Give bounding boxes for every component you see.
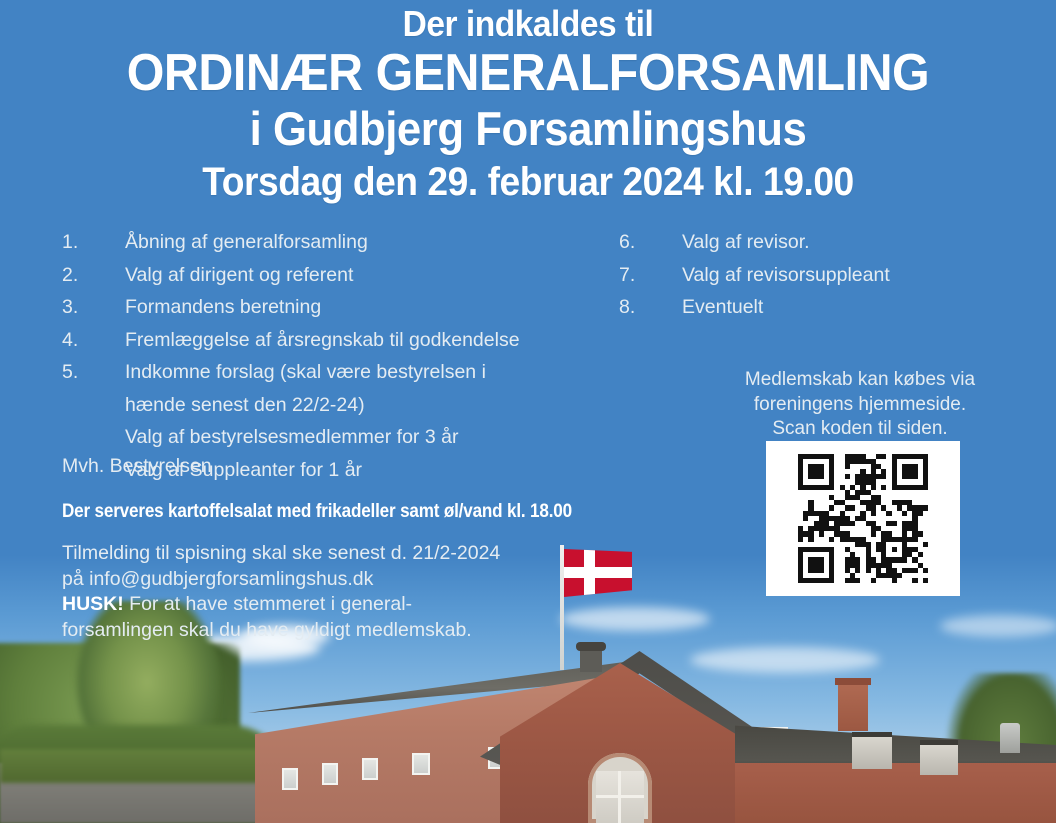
closing-block: Mvh. Bestyrelsen Der serveres kartoffels…: [62, 453, 722, 643]
agenda-list-left: 1. Åbning af generalforsamling 2. Valg a…: [62, 226, 622, 486]
serving-line: Der serveres kartoffelsalat med frikadel…: [62, 498, 656, 525]
window: [638, 648, 670, 694]
agenda-number: 2.: [62, 259, 125, 292]
agenda-text: Indkomne forslag (skal være bestyrelsen …: [125, 356, 622, 389]
qr-code-icon[interactable]: [798, 454, 928, 584]
remember-line-1: HUSK! For at have stemmeret i general-: [62, 592, 722, 618]
signup-line-1: Tilmelding til spisning skal ske senest …: [62, 541, 722, 567]
agenda-number: 8.: [619, 291, 682, 324]
heading-line-4: Torsdag den 29. februar 2024 kl. 19.00: [37, 152, 1019, 202]
agenda-number: 7.: [619, 259, 682, 292]
remember-label: HUSK!: [62, 593, 124, 615]
agenda-item: 8. Eventuelt: [619, 291, 999, 324]
membership-note: Medlemskab kan købes via foreningens hje…: [700, 368, 1020, 442]
agenda-subline: hænde senest den 22/2-24): [62, 389, 622, 422]
agenda-number: 6.: [619, 226, 682, 259]
agenda-text: Eventuelt: [682, 291, 999, 324]
chimney: [838, 683, 868, 731]
agenda-number: 3.: [62, 291, 125, 324]
window: [924, 772, 950, 820]
agenda-item: 6. Valg af revisor.: [619, 226, 999, 259]
window: [322, 763, 338, 785]
window: [690, 652, 720, 698]
agenda-item: 5. Indkomne forslag (skal være bestyrels…: [62, 356, 622, 389]
qr-code-box[interactable]: [766, 441, 960, 596]
agenda-subline: Valg af bestyrelsesmedlemmer for 3 år: [62, 421, 622, 454]
window: [752, 752, 786, 814]
poster: Der indkaldes til ORDINÆR GENERALFORSAML…: [0, 0, 1056, 823]
signup-block: Tilmelding til spisning skal ske senest …: [62, 541, 722, 643]
membership-line-1: Medlemskab kan købes via: [700, 368, 1020, 393]
agenda-item: 4. Fremlæggelse af årsregnskab til godke…: [62, 324, 622, 357]
agenda-number: 1.: [62, 226, 125, 259]
agenda-text: Formandens beretning: [125, 291, 622, 324]
roof-vent: [580, 648, 602, 672]
window: [828, 768, 854, 816]
dormer-window: [920, 745, 958, 775]
window: [558, 730, 596, 792]
cloud: [940, 615, 1056, 637]
heading-line-1: Der indkaldes til: [37, 0, 1019, 42]
window: [282, 768, 298, 790]
window: [412, 753, 430, 775]
agenda-item: 3. Formandens beretning: [62, 291, 622, 324]
dormer-window: [852, 737, 892, 769]
agenda-text: Åbning af generalforsamling: [125, 226, 622, 259]
heading-line-3: i Gudbjerg Forsamlingshus: [37, 99, 1019, 152]
membership-line-2: foreningens hjemmeside.: [700, 393, 1020, 418]
roof-vent: [1000, 723, 1020, 753]
agenda-item: 7. Valg af revisorsuppleant: [619, 259, 999, 292]
window: [972, 774, 994, 820]
window: [876, 770, 902, 818]
heading-line-2: ORDINÆR GENERALFORSAMLING: [37, 42, 1019, 99]
window: [362, 758, 378, 780]
remember-rest: For at have stemmeret i general-: [124, 593, 412, 615]
agenda-text: Valg af revisor.: [682, 226, 999, 259]
entrance-glass: [596, 771, 644, 823]
agenda-number: 5.: [62, 356, 125, 389]
agenda-text: Valg af revisorsuppleant: [682, 259, 999, 292]
remember-line-2: forsamlingen skal du have gyldigt medlem…: [62, 618, 722, 644]
agenda-text: Valg af dirigent og referent: [125, 259, 622, 292]
agenda-item: 2. Valg af dirigent og referent: [62, 259, 622, 292]
regards-line: Mvh. Bestyrelsen: [62, 453, 722, 480]
agenda-list-right: 6. Valg af revisor. 7. Valg af revisorsu…: [619, 226, 999, 324]
signup-line-2: på info@gudbjergforsamlingshus.dk: [62, 567, 722, 593]
agenda-number: 4.: [62, 324, 125, 357]
agenda-item: 1. Åbning af generalforsamling: [62, 226, 622, 259]
agenda-text: Fremlæggelse af årsregnskab til godkende…: [125, 324, 622, 357]
membership-line-3: Scan koden til siden.: [700, 417, 1020, 442]
poster-headings: Der indkaldes til ORDINÆR GENERALFORSAML…: [0, 0, 1056, 202]
